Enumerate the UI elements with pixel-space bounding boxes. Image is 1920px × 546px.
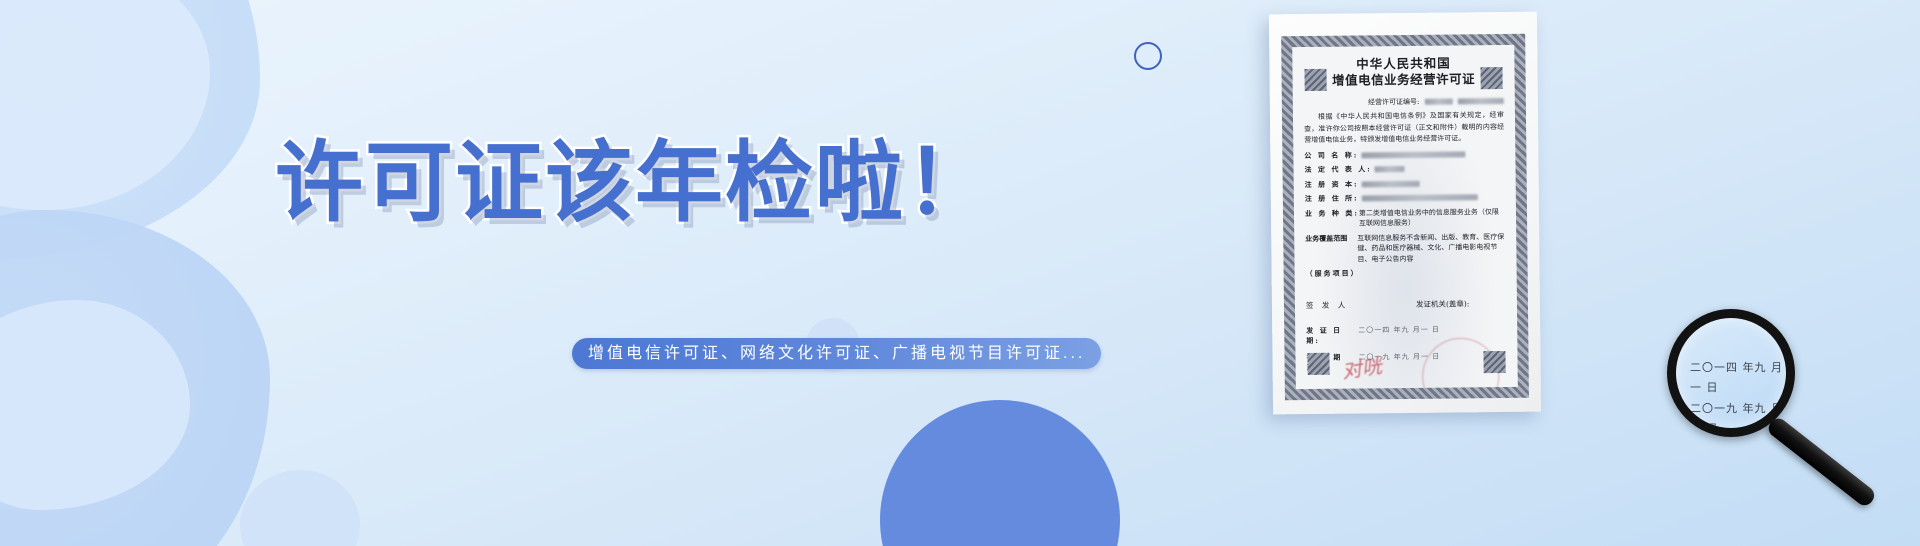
certificate-title: 中华人民共和国 增值电信业务经营许可证 — [1303, 55, 1503, 89]
license-certificate: 中华人民共和国 增值电信业务经营许可证 经营许可证编号: 根据《中华人民共和国电… — [1269, 12, 1541, 415]
field-registered-capital: 注 册 资 本: — [1305, 178, 1505, 191]
license-number-redacted — [1425, 98, 1453, 104]
field-legal-representative-label: 法 定 代 表 人: — [1304, 164, 1371, 175]
magnified-issue-date: 二〇一四 年九 月一 日 — [1690, 358, 1786, 399]
certificate-corner-bottom-left — [1307, 353, 1329, 375]
certificate-content: 中华人民共和国 增值电信业务经营许可证 经营许可证编号: 根据《中华人民共和国电… — [1292, 45, 1518, 389]
certificate-corner-top-right — [1480, 67, 1502, 89]
page-title: 许可证该年检啦！ — [0, 112, 1270, 239]
field-registered-capital-label: 注 册 资 本: — [1305, 179, 1359, 190]
field-service-scope-sublabel: （服务项目） — [1306, 269, 1360, 280]
decorative-ring-icon — [1134, 42, 1162, 70]
license-number-label: 经营许可证编号: — [1368, 98, 1419, 107]
field-service-type-label: 业 务 种 类: — [1305, 208, 1359, 230]
magnifier-icon: 二〇一四 年九 月一 日 二〇一九 年九 月一 日 — [1667, 309, 1795, 437]
promo-banner: 许可证该年检啦！ 增值电信许可证、网络文化许可证、广播电视节目许可证... 中华… — [0, 0, 1920, 546]
certificate-corner-top-left — [1304, 69, 1326, 91]
certificate-corner-bottom-right — [1483, 351, 1505, 373]
field-company-name-label: 公 司 名 称: — [1304, 150, 1358, 161]
field-service-type-value: 第二类增值电信业务中的信息服务业务（仅限互联网信息服务） — [1359, 207, 1505, 230]
field-service-scope-value: 互联网信息服务不含新闻、出版、教育、医疗保健、药品和医疗器械、文化、广播电影电视… — [1357, 232, 1505, 265]
magnified-dates: 二〇一四 年九 月一 日 二〇一九 年九 月一 日 — [1676, 358, 1786, 437]
field-registered-address-label: 注 册 住 所: — [1305, 194, 1359, 205]
license-number-row: 经营许可证编号: — [1304, 96, 1504, 108]
field-company-name-value — [1358, 149, 1504, 161]
decorative-blob-bottom-left-2 — [0, 300, 190, 510]
field-service-type: 业 务 种 类: 第二类增值电信业务中的信息服务业务（仅限互联网信息服务） — [1305, 207, 1505, 230]
issue-date-label: 发 证 日 期: — [1306, 325, 1358, 346]
field-service-scope-sub: （服务项目） — [1306, 267, 1506, 280]
magnifier-handle — [1765, 415, 1878, 509]
field-company-name: 公 司 名 称: — [1304, 149, 1504, 162]
certificate-dates: 发 证 日 期: 二〇一四 年九 月一 日 有 效 期 至: 二〇一九 年九 月… — [1306, 317, 1507, 373]
decorative-blob-bottom-left — [0, 210, 270, 546]
signature-row: 签 发 人 发证机关(盖章): — [1306, 298, 1506, 311]
issuer-label: 签 发 人 — [1306, 299, 1416, 311]
issue-date-value: 二〇一四 年九 月一 日 — [1358, 324, 1506, 346]
field-registered-capital-value — [1359, 178, 1505, 190]
magnifier-glass: 二〇一四 年九 月一 日 二〇一九 年九 月一 日 — [1667, 309, 1795, 437]
field-registered-address: 注 册 住 所: — [1305, 192, 1505, 205]
field-legal-representative-value — [1372, 163, 1505, 175]
issue-date-row: 发 证 日 期: 二〇一四 年九 月一 日 — [1306, 324, 1506, 346]
field-service-scope: 业务覆盖范围 互联网信息服务不含新闻、出版、教育、医疗保健、药品和医疗器械、文化… — [1305, 232, 1505, 266]
license-number-redacted-2 — [1458, 98, 1504, 104]
certificate-title-line2: 增值电信业务经营许可证 — [1304, 71, 1504, 89]
certificate-body-text: 根据《中华人民共和国电信条例》及国家有关规定，经审查，准许你公司按照本经营许可证… — [1304, 110, 1504, 147]
expiry-date-row: 有 效 期 至: 二〇一九 年九 月一 日 — [1306, 351, 1506, 373]
decorative-blob-small-bottom — [240, 470, 360, 546]
decorative-circle-accent — [880, 400, 1120, 546]
authority-label: 发证机关(盖章): — [1416, 298, 1506, 310]
field-legal-representative: 法 定 代 表 人: — [1304, 163, 1504, 176]
subtitle-pill: 增值电信许可证、网络文化许可证、广播电视节目许可证... — [572, 338, 1101, 369]
field-registered-address-value — [1359, 192, 1505, 204]
field-service-scope-label: 业务覆盖范围 — [1305, 233, 1357, 265]
certificate-ornate-border: 中华人民共和国 增值电信业务经营许可证 经营许可证编号: 根据《中华人民共和国电… — [1281, 34, 1529, 401]
